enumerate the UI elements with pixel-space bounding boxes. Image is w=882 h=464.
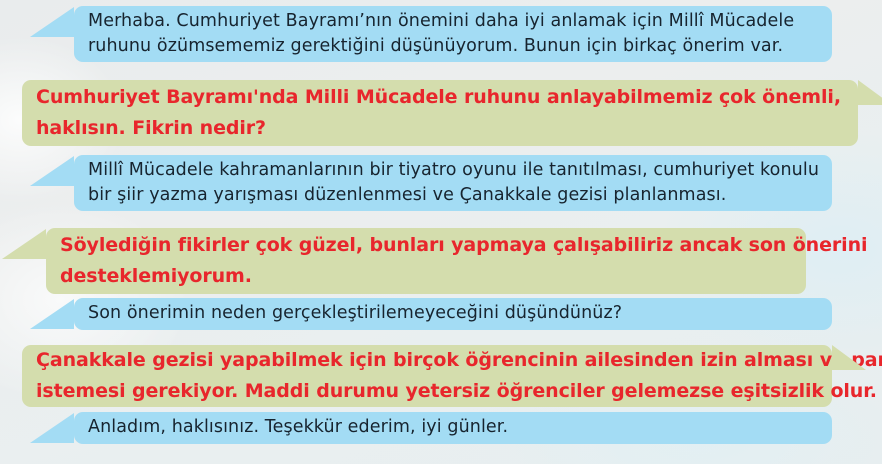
bubble-tail-left-icon [30, 299, 74, 329]
chat-bubble-student-5[interactable]: Son önerimin neden gerçekleştirilemeyece… [74, 298, 832, 330]
chat-bubble-teacher-6[interactable]: Çanakkale gezisi yapabilmek için birçok … [22, 345, 832, 407]
chat-bubble-student-3[interactable]: Millî Mücadele kahramanlarının bir tiyat… [74, 155, 832, 211]
chat-bubble-line: Son önerimin neden gerçekleştirilemeyece… [88, 301, 818, 326]
chat-bubble-student-7[interactable]: Anladım, haklısınız. Teşekkür ederim, iy… [74, 412, 832, 444]
chat-bubble-student-1[interactable]: Merhaba. Cumhuriyet Bayramı’nın önemini … [74, 6, 832, 62]
chat-bubble-line: Anladım, haklısınız. Teşekkür ederim, iy… [88, 415, 818, 440]
chat-bubble-line: desteklemiyorum. [60, 261, 792, 292]
chat-bubble-line: istemesi gerekiyor. Maddi durumu yetersi… [36, 376, 818, 407]
chat-bubble-line: Cumhuriyet Bayramı'nda Milli Mücadele ru… [36, 82, 844, 113]
chat-bubble-line: bir şiir yazma yarışması düzenlenmesi ve… [88, 183, 818, 208]
chat-bubble-teacher-4[interactable]: Söylediğin fikirler çok güzel, bunları y… [46, 228, 806, 294]
bubble-tail-right-icon [858, 80, 882, 105]
bubble-tail-left-icon [30, 413, 74, 443]
bubble-tail-left-icon [30, 7, 74, 37]
bubble-tail-right-icon [832, 345, 866, 370]
chat-bubble-line: haklısın. Fikrin nedir? [36, 113, 844, 144]
chat-bubble-line: Söylediğin fikirler çok güzel, bunları y… [60, 230, 792, 261]
bubble-tail-left-icon [2, 229, 46, 259]
chat-bubble-line: Merhaba. Cumhuriyet Bayramı’nın önemini … [88, 9, 818, 34]
bubble-tail-left-icon [30, 156, 74, 186]
chat-bubble-line: ruhunu özümsememiz gerektiğini düşünüyor… [88, 34, 818, 59]
chat-bubble-teacher-2[interactable]: Cumhuriyet Bayramı'nda Milli Mücadele ru… [22, 80, 858, 146]
chat-bubble-line: Millî Mücadele kahramanlarının bir tiyat… [88, 158, 818, 183]
chat-conversation-page: Merhaba. Cumhuriyet Bayramı’nın önemini … [0, 0, 882, 464]
chat-bubble-line: Çanakkale gezisi yapabilmek için birçok … [36, 345, 818, 376]
